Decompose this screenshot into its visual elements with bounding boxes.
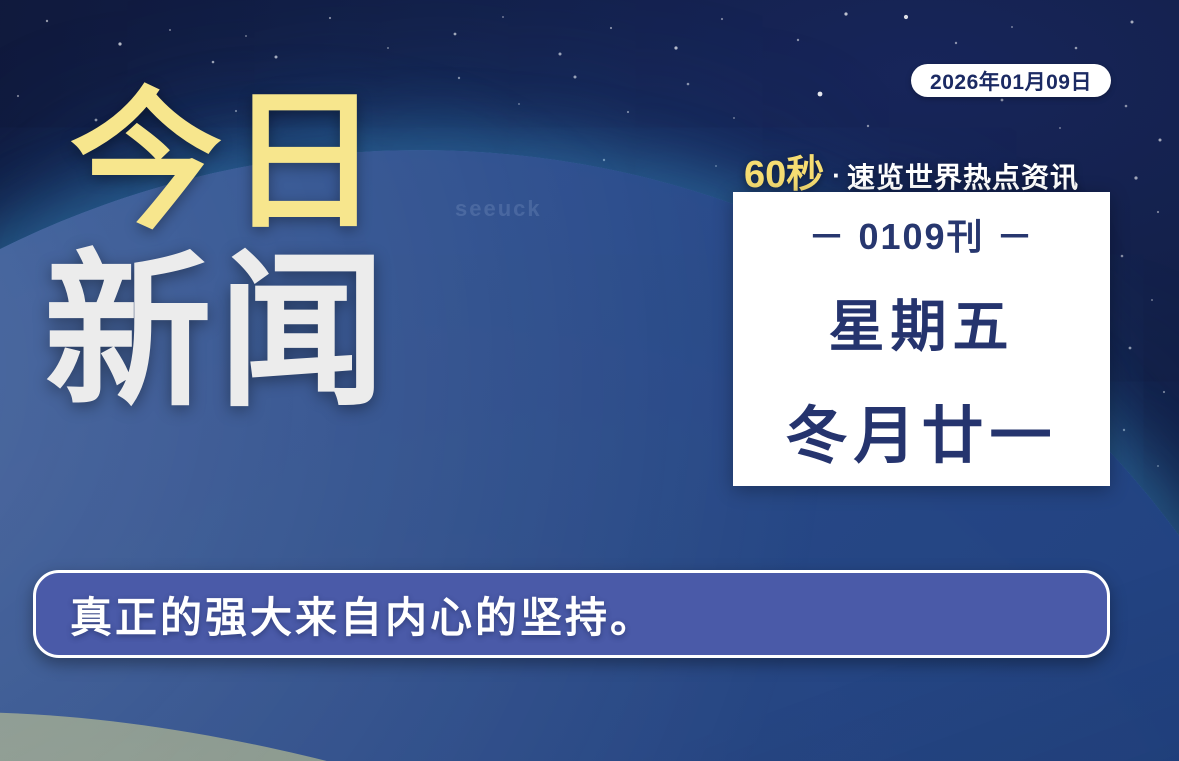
tagline-text: 速览世界热点资讯 (847, 156, 1079, 196)
tagline: 60秒 · 速览世界热点资讯 (744, 143, 1079, 198)
tagline-separator: · (832, 160, 841, 191)
headline-line-2: 新闻 (44, 248, 468, 416)
quote-banner: 真正的强大来自内心的坚持。 (33, 570, 1110, 658)
tagline-seconds: 60秒 (744, 143, 824, 198)
lunar-date-label: 冬月廿一 (785, 385, 1057, 475)
date-badge: 2026年01月09日 (911, 64, 1111, 97)
news-poster: seeuck 今日 新闻 2026年01月09日 60秒 · 速览世界热点资讯 … (0, 0, 1179, 761)
headline-line-1: 今日 (70, 86, 468, 238)
weekday-label: 星期五 (829, 282, 1015, 363)
page-title: 今日 新闻 (48, 86, 468, 416)
quote-text: 真正的强大来自内心的坚持。 (70, 584, 655, 645)
issue-number: － 0109刊 － (808, 208, 1034, 260)
date-info-card: － 0109刊 － 星期五 冬月廿一 (733, 192, 1110, 486)
